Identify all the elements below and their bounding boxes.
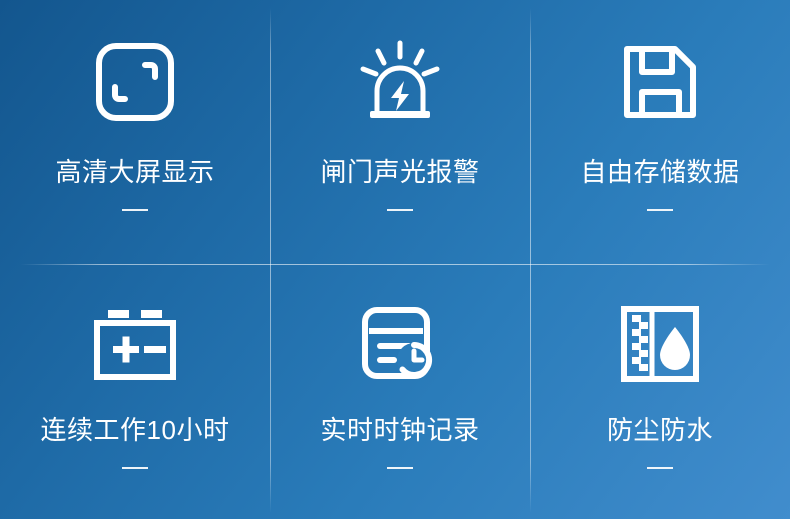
feature-dash: [122, 209, 148, 211]
feature-label: 自由存储数据: [580, 158, 739, 187]
dustproof-waterproof-icon: [614, 298, 706, 390]
feature-label: 连续工作10小时: [41, 416, 230, 445]
feature-label: 防尘防水: [607, 416, 713, 445]
feature-label: 闸门声光报警: [320, 158, 479, 187]
feature-cell-alarm[interactable]: 闸门声光报警: [270, 0, 530, 264]
feature-dash: [647, 209, 673, 211]
feature-dash: [647, 467, 673, 469]
fullscreen-display-icon: [89, 36, 181, 128]
feature-dash: [387, 467, 413, 469]
clock-record-icon: [354, 298, 446, 390]
feature-cell-battery-life[interactable]: 连续工作10小时: [0, 264, 270, 519]
feature-label: 高清大屏显示: [55, 158, 214, 187]
feature-grid: 高清大屏显示: [0, 0, 790, 519]
feature-cell-hd-display[interactable]: 高清大屏显示: [0, 0, 270, 264]
feature-highlights-panel: 高清大屏显示: [0, 0, 790, 519]
floppy-disk-save-icon: [614, 36, 706, 128]
feature-cell-dust-water-proof[interactable]: 防尘防水: [530, 264, 790, 519]
feature-dash: [387, 209, 413, 211]
feature-label: 实时时钟记录: [320, 416, 479, 445]
feature-cell-clock-record[interactable]: 实时时钟记录: [270, 264, 530, 519]
alarm-siren-icon: [354, 36, 446, 128]
feature-dash: [122, 467, 148, 469]
battery-icon: [89, 298, 181, 390]
feature-cell-storage[interactable]: 自由存储数据: [530, 0, 790, 264]
